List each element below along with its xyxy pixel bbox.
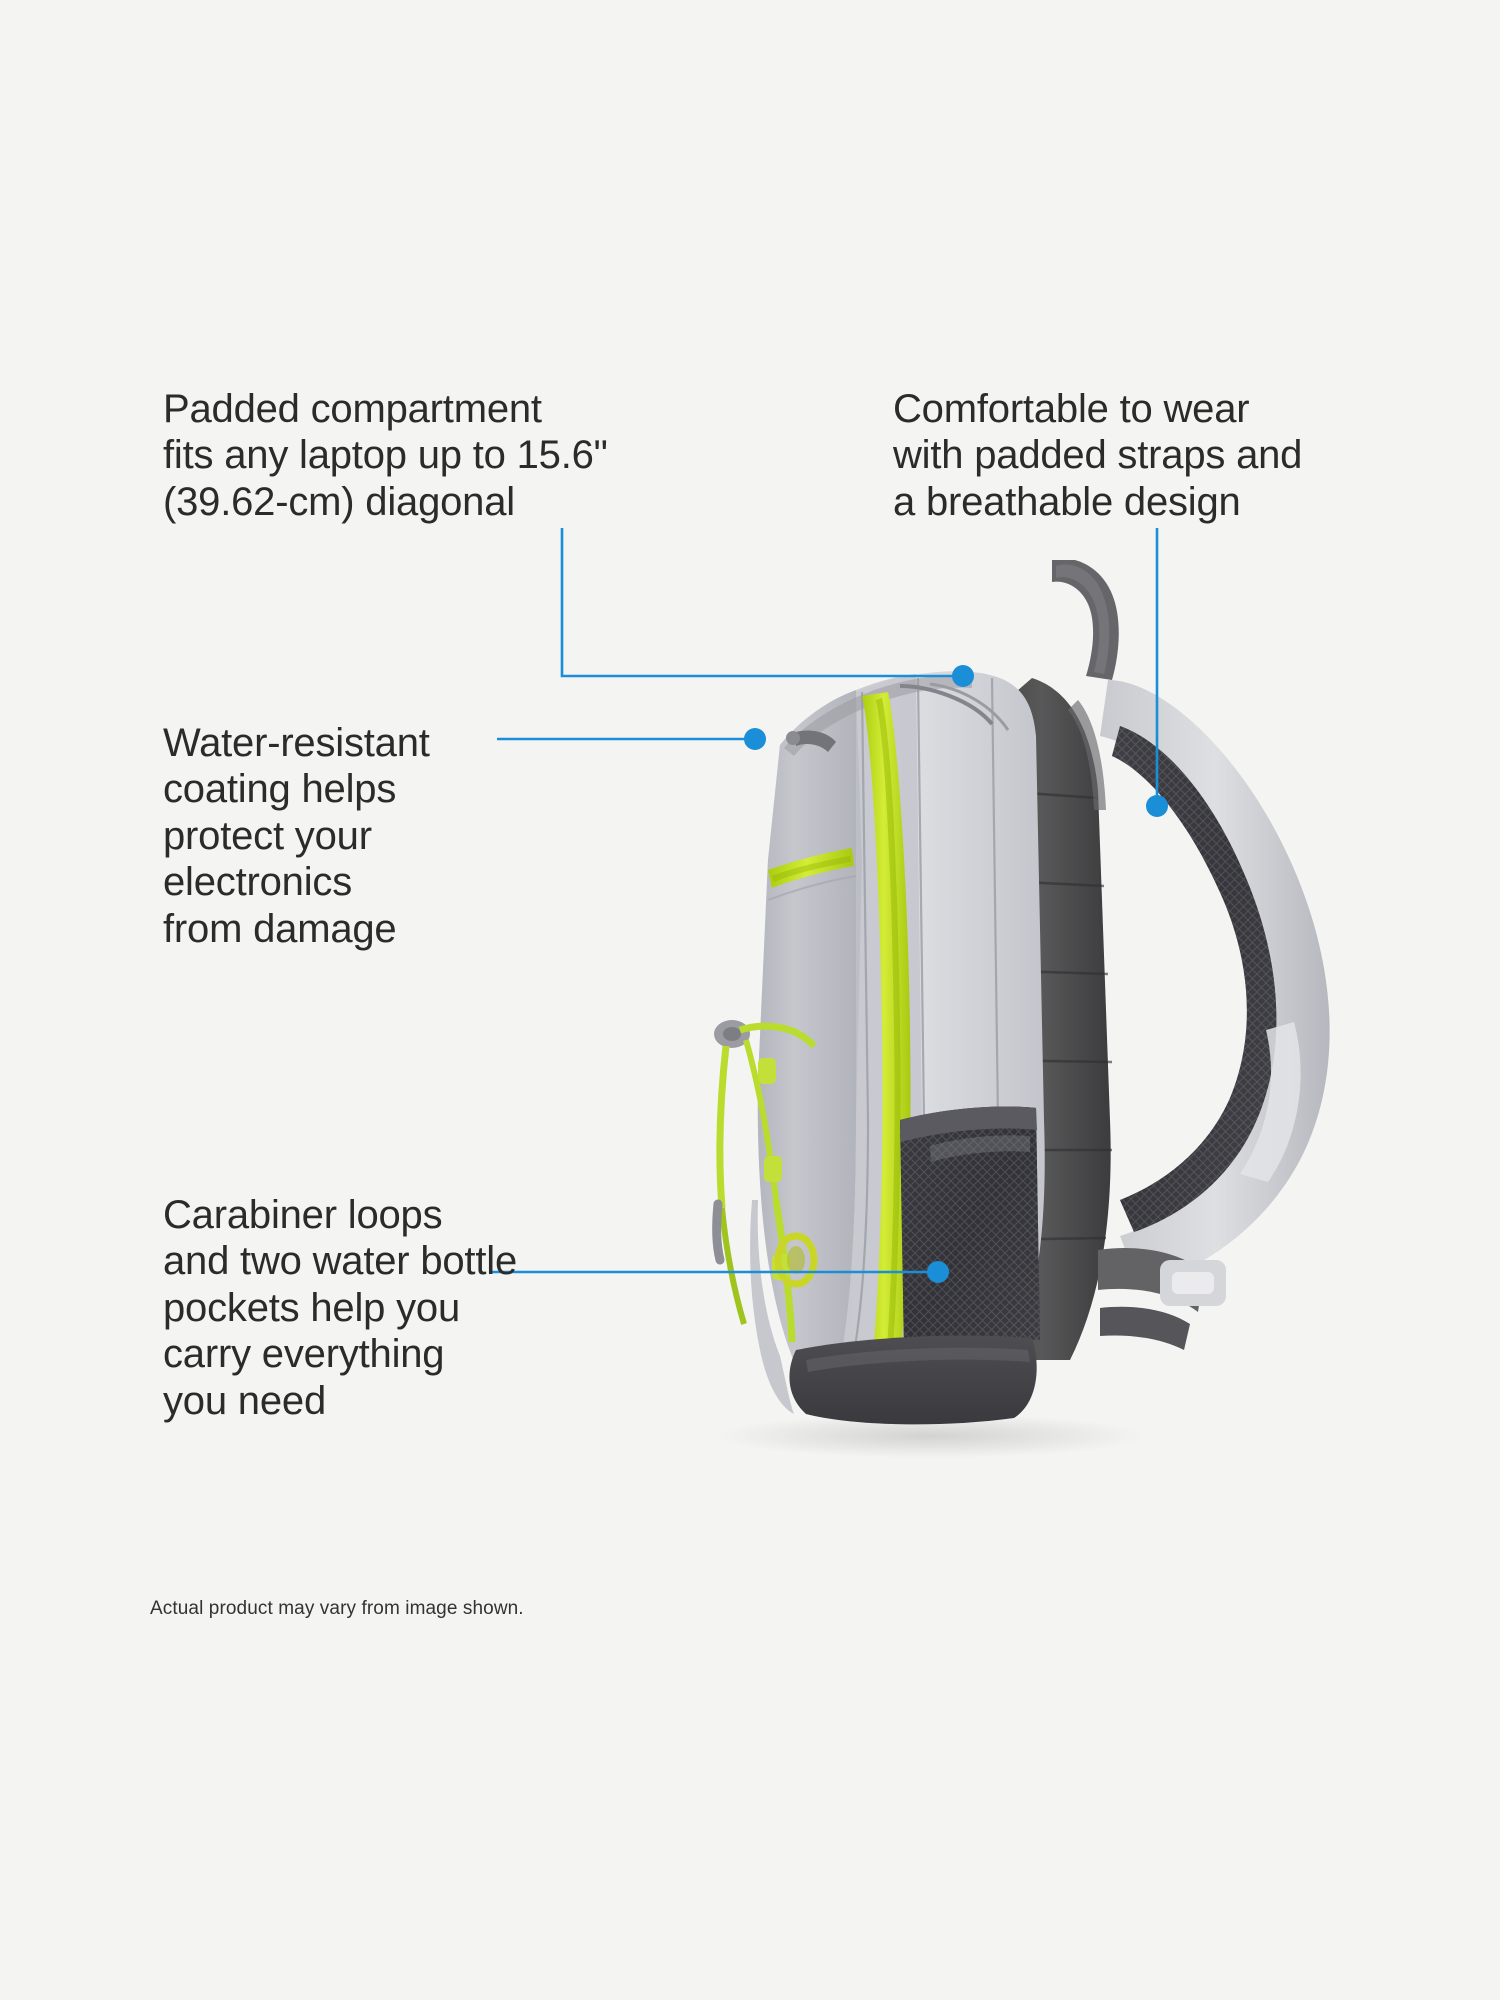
callout-laptop-compartment: Padded compartment fits any laptop up to… [163,386,763,525]
bag-base [789,1336,1036,1425]
product-image-backpack [600,560,1360,1470]
callout-carabiner-pockets: Carabiner loops and two water bottle poc… [163,1192,623,1424]
grab-handle [1052,560,1119,680]
strap-buckle-lower [1098,1248,1226,1350]
water-bottle-mesh-pocket [900,1107,1040,1353]
callout-water-resistant: Water-resistant coating helps protect yo… [163,720,583,952]
infographic-canvas: Padded compartment fits any laptop up to… [0,0,1500,2000]
callout-comfort-straps: Comfortable to wear with padded straps a… [893,386,1453,525]
disclaimer-text: Actual product may vary from image shown… [150,1598,524,1620]
shoulder-strap-group [1100,680,1330,1288]
